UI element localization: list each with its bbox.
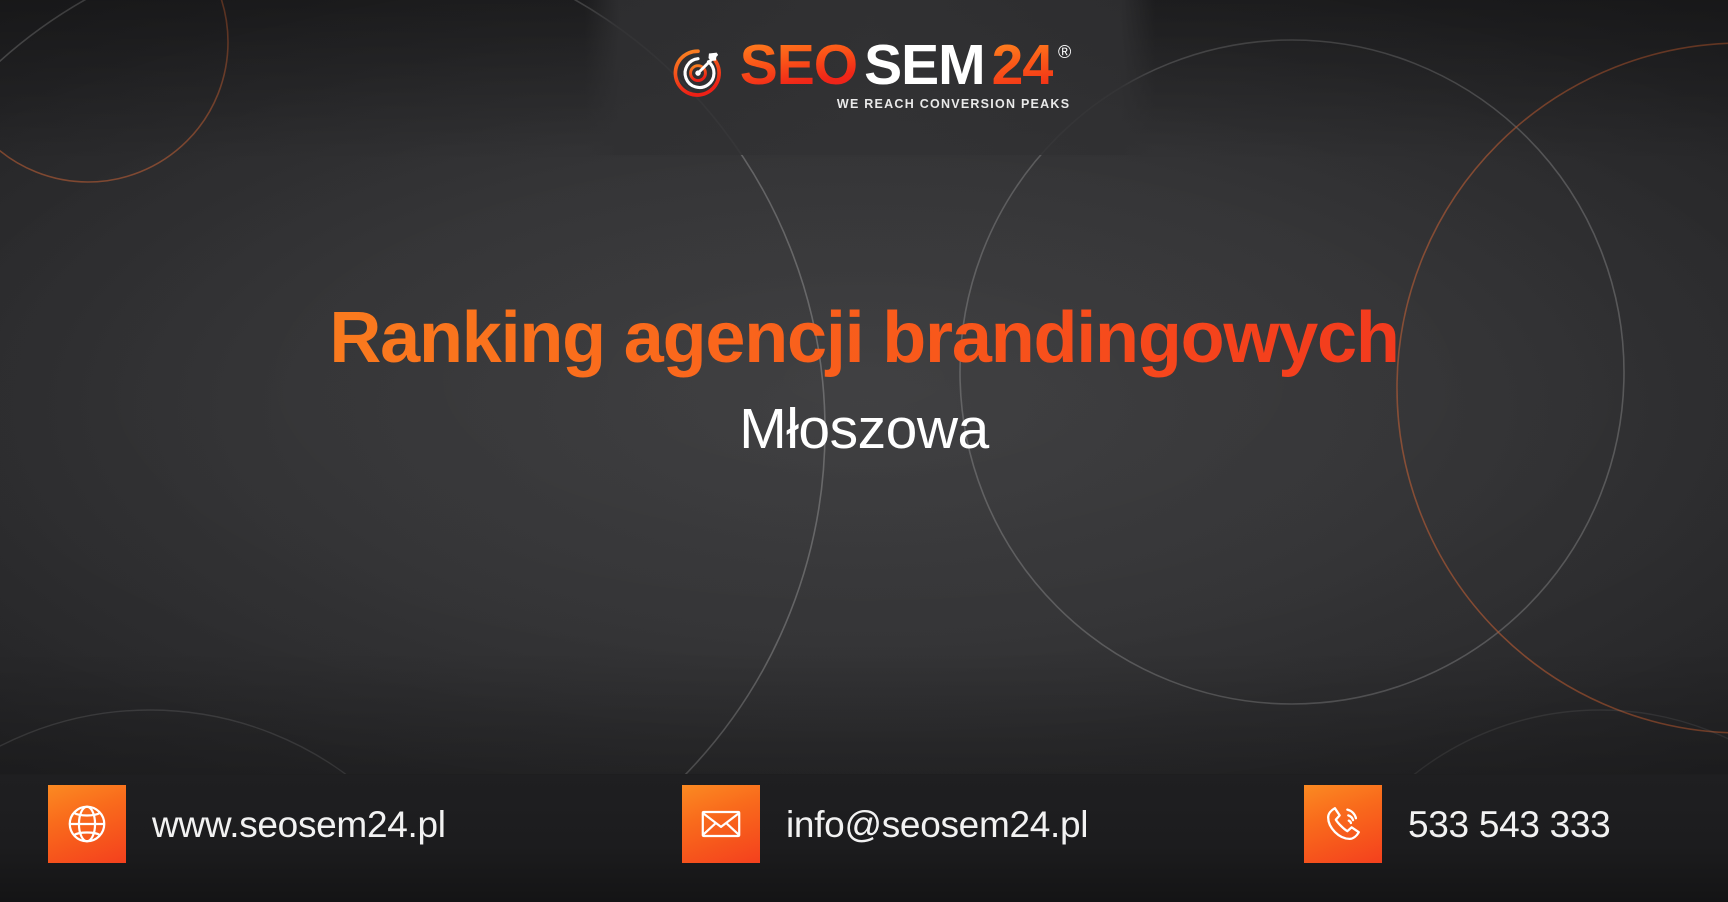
contact-website-label: www.seosem24.pl — [152, 806, 446, 843]
contact-item-website[interactable]: www.seosem24.pl — [48, 785, 446, 863]
deco-circle-rust-topleft — [0, 0, 228, 182]
contact-item-email[interactable]: info@seosem24.pl — [682, 785, 1088, 863]
phone-icon — [1304, 785, 1382, 863]
page-title: Ranking agencji brandingowych — [329, 300, 1398, 378]
brand-tagline: WE REACH CONVERSION PEAKS — [837, 97, 1070, 111]
contact-phone-label: 533 543 333 — [1408, 806, 1610, 843]
brand-word-seo: SEO — [740, 37, 860, 94]
brand-logo[interactable]: SEO SEM 24 ® WE REACH CONVERSION PEAKS — [670, 37, 1071, 111]
registered-mark-icon: ® — [1058, 43, 1070, 61]
promo-slide: SEO SEM 24 ® WE REACH CONVERSION PEAKS R… — [0, 0, 1728, 902]
target-dart-icon — [670, 46, 726, 102]
brand-wordmark: SEO SEM 24 ® WE REACH CONVERSION PEAKS — [740, 37, 1071, 111]
contact-email-label: info@seosem24.pl — [786, 806, 1088, 843]
globe-icon — [48, 785, 126, 863]
brand-logo-panel: SEO SEM 24 ® WE REACH CONVERSION PEAKS — [585, 0, 1155, 155]
headline-block: Ranking agencji brandingowych Młoszowa — [0, 300, 1728, 460]
page-subtitle: Młoszowa — [739, 398, 988, 461]
envelope-icon — [682, 785, 760, 863]
contact-footer-bar: www.seosem24.pl info@seosem24.pl — [0, 774, 1728, 902]
contact-list: www.seosem24.pl info@seosem24.pl — [46, 785, 1682, 865]
brand-word-24: 24 — [985, 37, 1053, 94]
contact-item-phone[interactable]: 533 543 333 — [1304, 785, 1610, 863]
brand-word-sem: SEM — [860, 37, 985, 94]
brand-wordmark-main: SEO SEM 24 ® — [740, 37, 1071, 94]
